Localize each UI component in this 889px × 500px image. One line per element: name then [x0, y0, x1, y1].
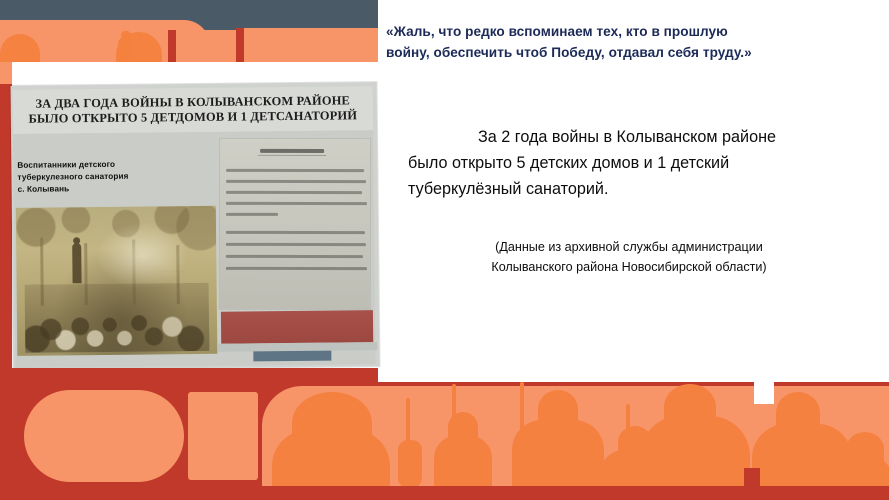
rifle-silhouette-3 — [520, 382, 524, 434]
document-text-line — [226, 267, 367, 270]
left-accent-strip-orange — [0, 62, 12, 84]
soldier-body-silhouette-7 — [832, 456, 889, 488]
poster-photo-caption: Воспитанники детского туберкулезного сан… — [17, 158, 213, 196]
photo-light-haze — [96, 221, 189, 290]
soldier-body-silhouette-5 — [640, 416, 750, 488]
top-band-shape-middle — [176, 30, 236, 62]
presentation-slide: ЗА ДВА ГОДА ВОЙНЫ В КОЛЫВАНСКОМ РАЙОНЕ Б… — [0, 0, 889, 500]
bottom-band-base-strip — [0, 486, 889, 500]
document-text-line — [226, 191, 362, 194]
document-text-line — [226, 202, 367, 205]
poster-headline-line-2: БЫЛО ОТКРЫТО 5 ДЕТДОМОВ И 1 ДЕТСАНАТОРИЙ — [28, 108, 357, 127]
soldier-body-silhouette-1 — [272, 430, 390, 488]
poster-maroon-panel — [221, 310, 373, 344]
photo-standing-figure — [72, 243, 81, 283]
document-text-line — [226, 231, 365, 234]
quotation-text: «Жаль, что редко вспоминаем тех, кто в п… — [386, 22, 864, 63]
bottom-band-pill-shape — [24, 390, 184, 482]
source-note-line-1: (Данные из архивной службы администрации — [414, 238, 844, 258]
photo-children-group — [25, 283, 210, 353]
quotation-line-2: войну, обеспечить чтоб Победу, отдавал с… — [386, 43, 864, 64]
soldier-body-silhouette-2 — [434, 436, 492, 488]
archive-poster-photo: ЗА ДВА ГОДА ВОЙНЫ В КОЛЫВАНСКОМ РАЙОНЕ Б… — [11, 82, 380, 370]
rifle-silhouette-2 — [452, 384, 456, 444]
bottom-band-rectangle-shape — [188, 392, 258, 480]
document-text-line — [226, 255, 363, 258]
document-text-line — [226, 180, 366, 183]
main-body-text: За 2 года войны в Колыванском районе был… — [408, 124, 858, 203]
soldier-body-silhouette-3 — [512, 420, 604, 488]
top-band-divider-1 — [168, 30, 176, 62]
bottom-band-white-notch — [754, 378, 774, 404]
poster-caption-line-3: с. Колывань — [18, 182, 214, 196]
soldier-arm-silhouette-1 — [398, 440, 422, 488]
top-decorative-band — [0, 0, 378, 62]
top-band-shape-right — [240, 28, 378, 62]
bottom-band-white-gap — [378, 368, 889, 382]
document-text-line — [226, 169, 364, 172]
document-text-line — [226, 243, 366, 246]
poster-stand-base — [253, 351, 331, 362]
quotation-line-1: «Жаль, что редко вспоминаем тех, кто в п… — [386, 22, 864, 43]
source-note-line-2: Колыванского района Новосибирской област… — [414, 258, 844, 278]
body-text-line-3: туберкулёзный санаторий. — [408, 176, 858, 202]
source-attribution-note: (Данные из архивной службы администрации… — [414, 238, 844, 278]
body-text-line-2: было открыто 5 детских домов и 1 детский — [408, 150, 858, 176]
poster-headline: ЗА ДВА ГОДА ВОЙНЫ В КОЛЫВАНСКОМ РАЙОНЕ Б… — [13, 86, 373, 134]
sepia-group-photograph — [16, 206, 218, 356]
bottom-decorative-band — [0, 368, 889, 500]
body-text-line-1: За 2 года войны в Колыванском районе — [408, 124, 858, 150]
rifle-silhouette-4 — [626, 404, 630, 464]
top-band-divider-2 — [236, 28, 244, 62]
archival-typed-document — [220, 139, 370, 309]
document-title-line — [260, 149, 324, 153]
document-text-line — [226, 213, 278, 216]
